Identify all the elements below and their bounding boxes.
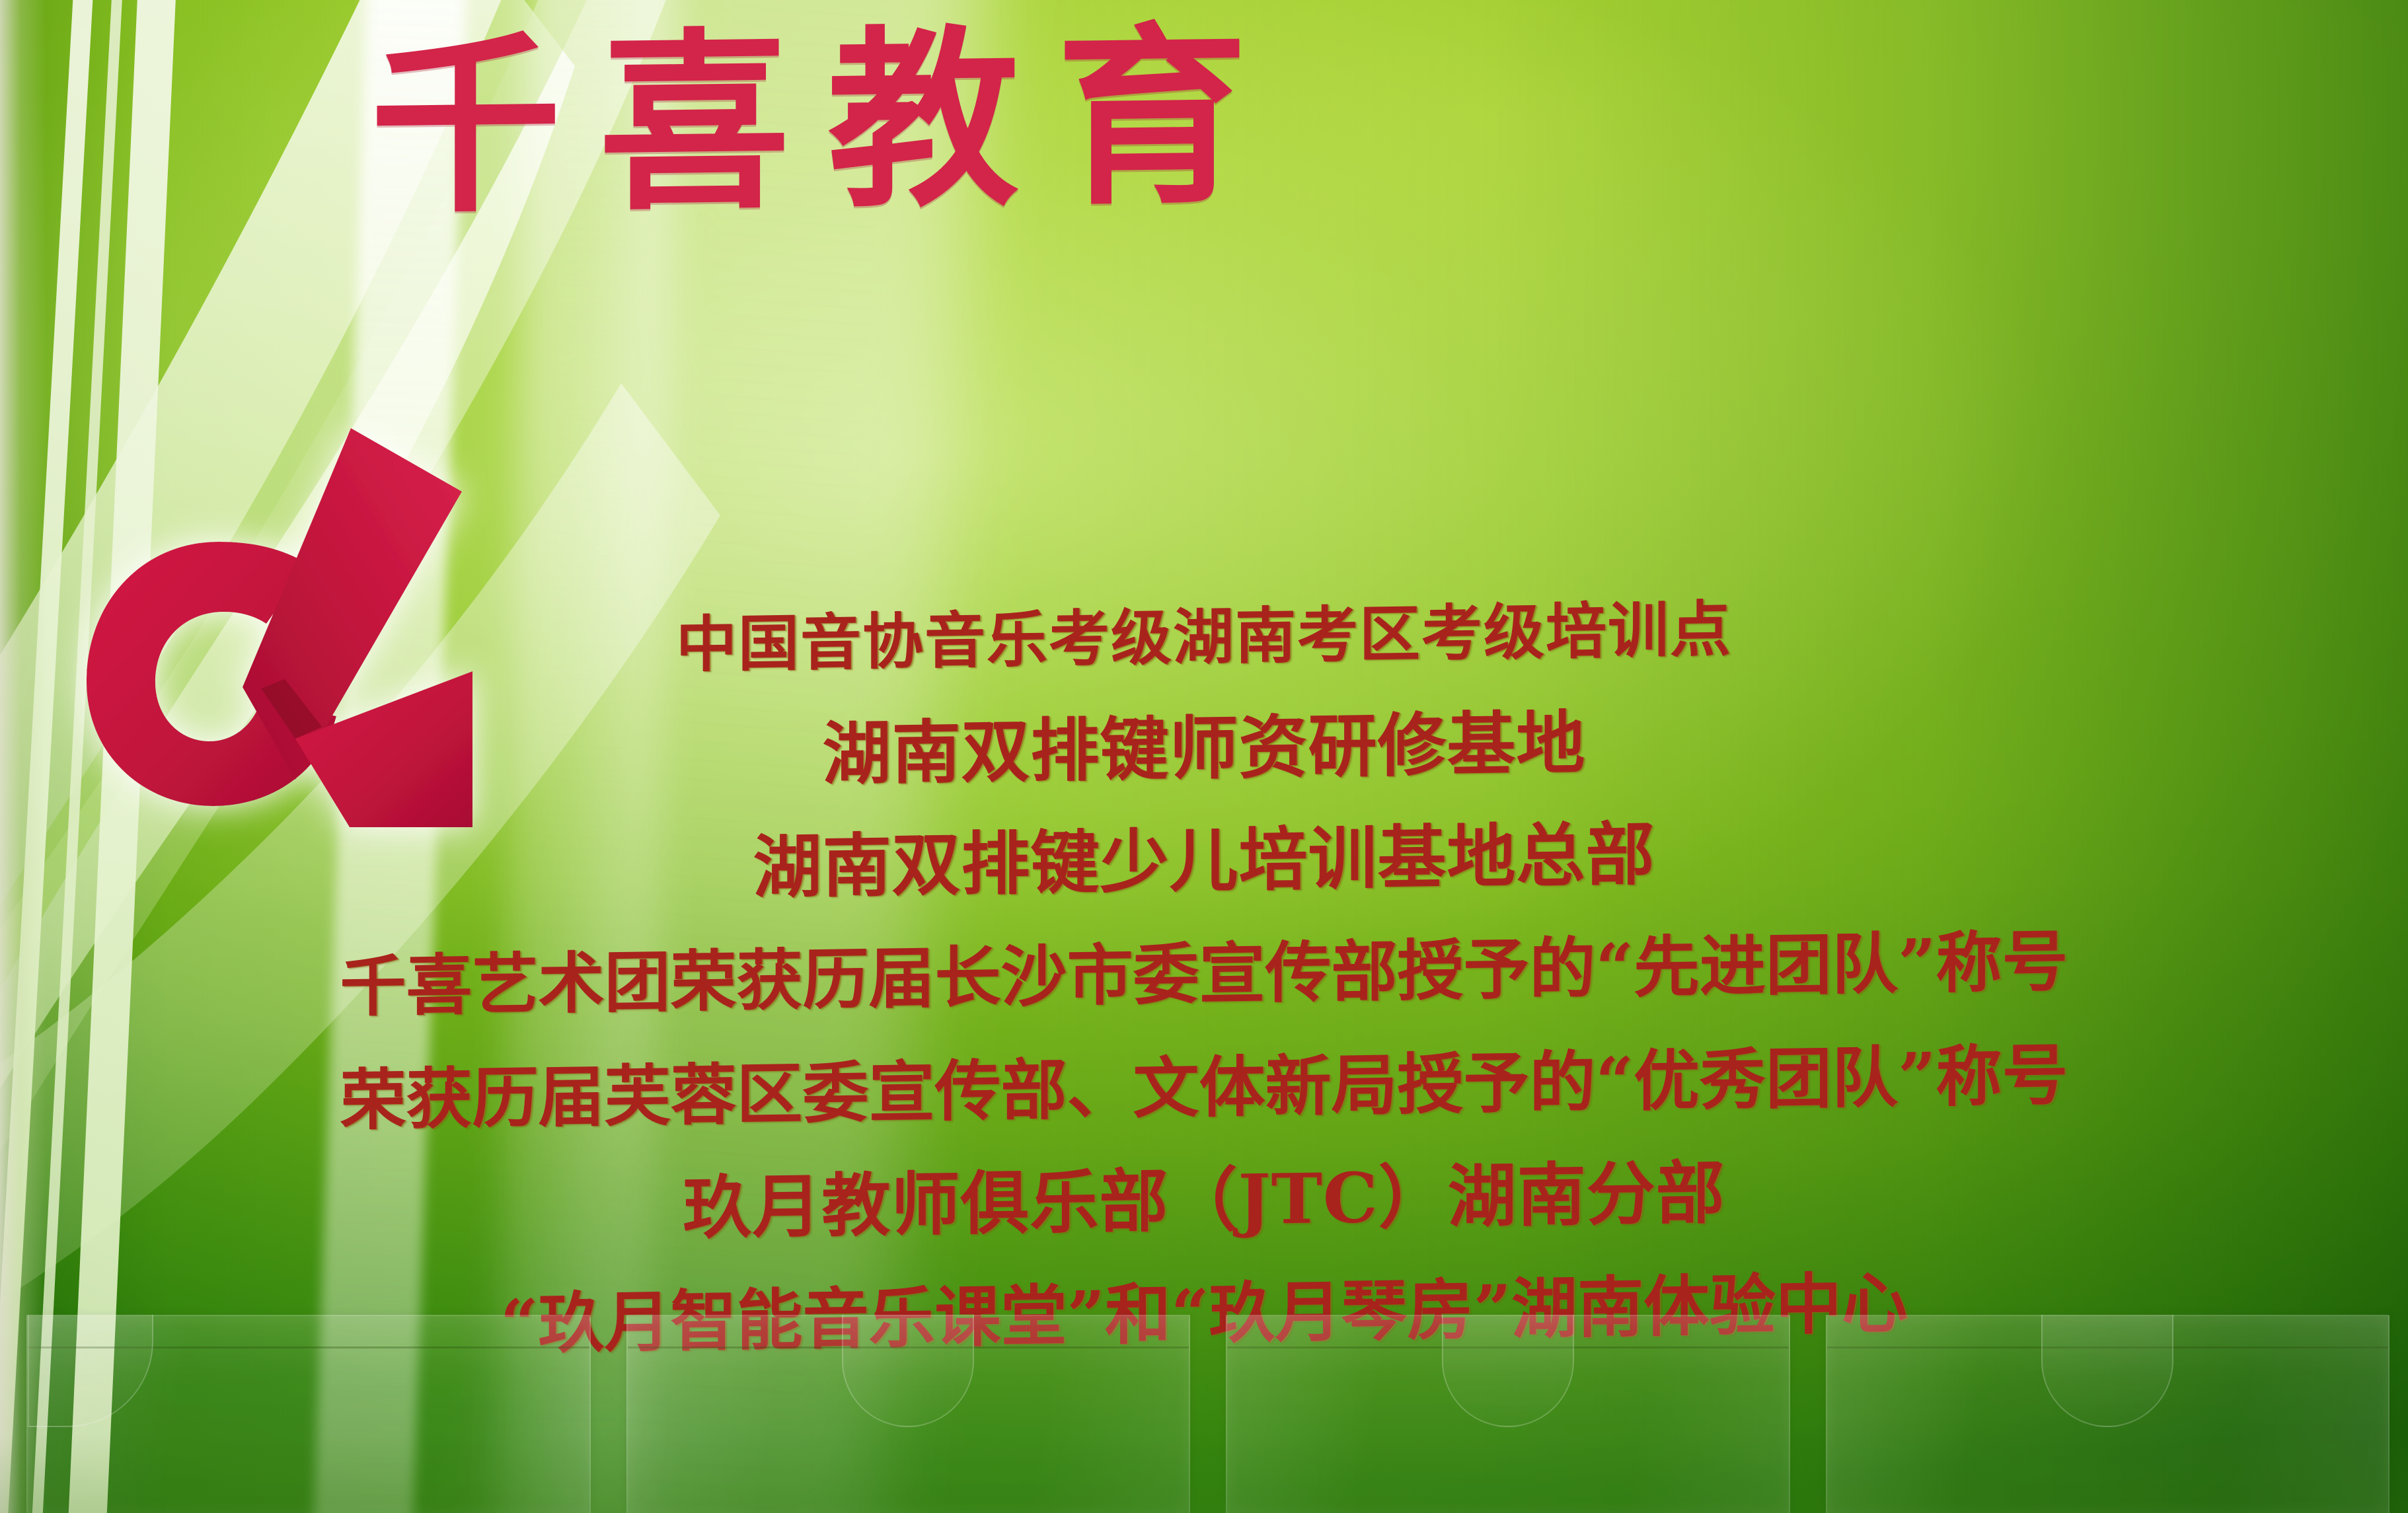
brochure-holder-2[interactable] bbox=[626, 1315, 1191, 1513]
holder-notch-icon bbox=[842, 1315, 974, 1427]
holder-notch-icon bbox=[28, 1315, 153, 1427]
holder-notch-icon bbox=[2041, 1315, 2173, 1427]
brochure-holder-row bbox=[0, 1295, 2408, 1513]
credentials-text-block: 中国音协音乐考级湖南考区考级培训点 湖南双排键师资研修基地 湖南双排键少儿培训基… bbox=[0, 564, 2408, 1388]
brochure-holder-1[interactable] bbox=[26, 1315, 591, 1513]
brochure-holder-3[interactable] bbox=[1226, 1315, 1790, 1513]
holder-notch-icon bbox=[1442, 1315, 1574, 1427]
brochure-holder-4[interactable] bbox=[1826, 1315, 2390, 1513]
sign-title: 千喜教育 bbox=[370, 9, 1969, 240]
signboard-photo: 千喜教育 中国音协音乐考级湖南考区考级培训点 湖南双排键师资研修基地 湖南双排键… bbox=[0, 0, 2408, 1513]
